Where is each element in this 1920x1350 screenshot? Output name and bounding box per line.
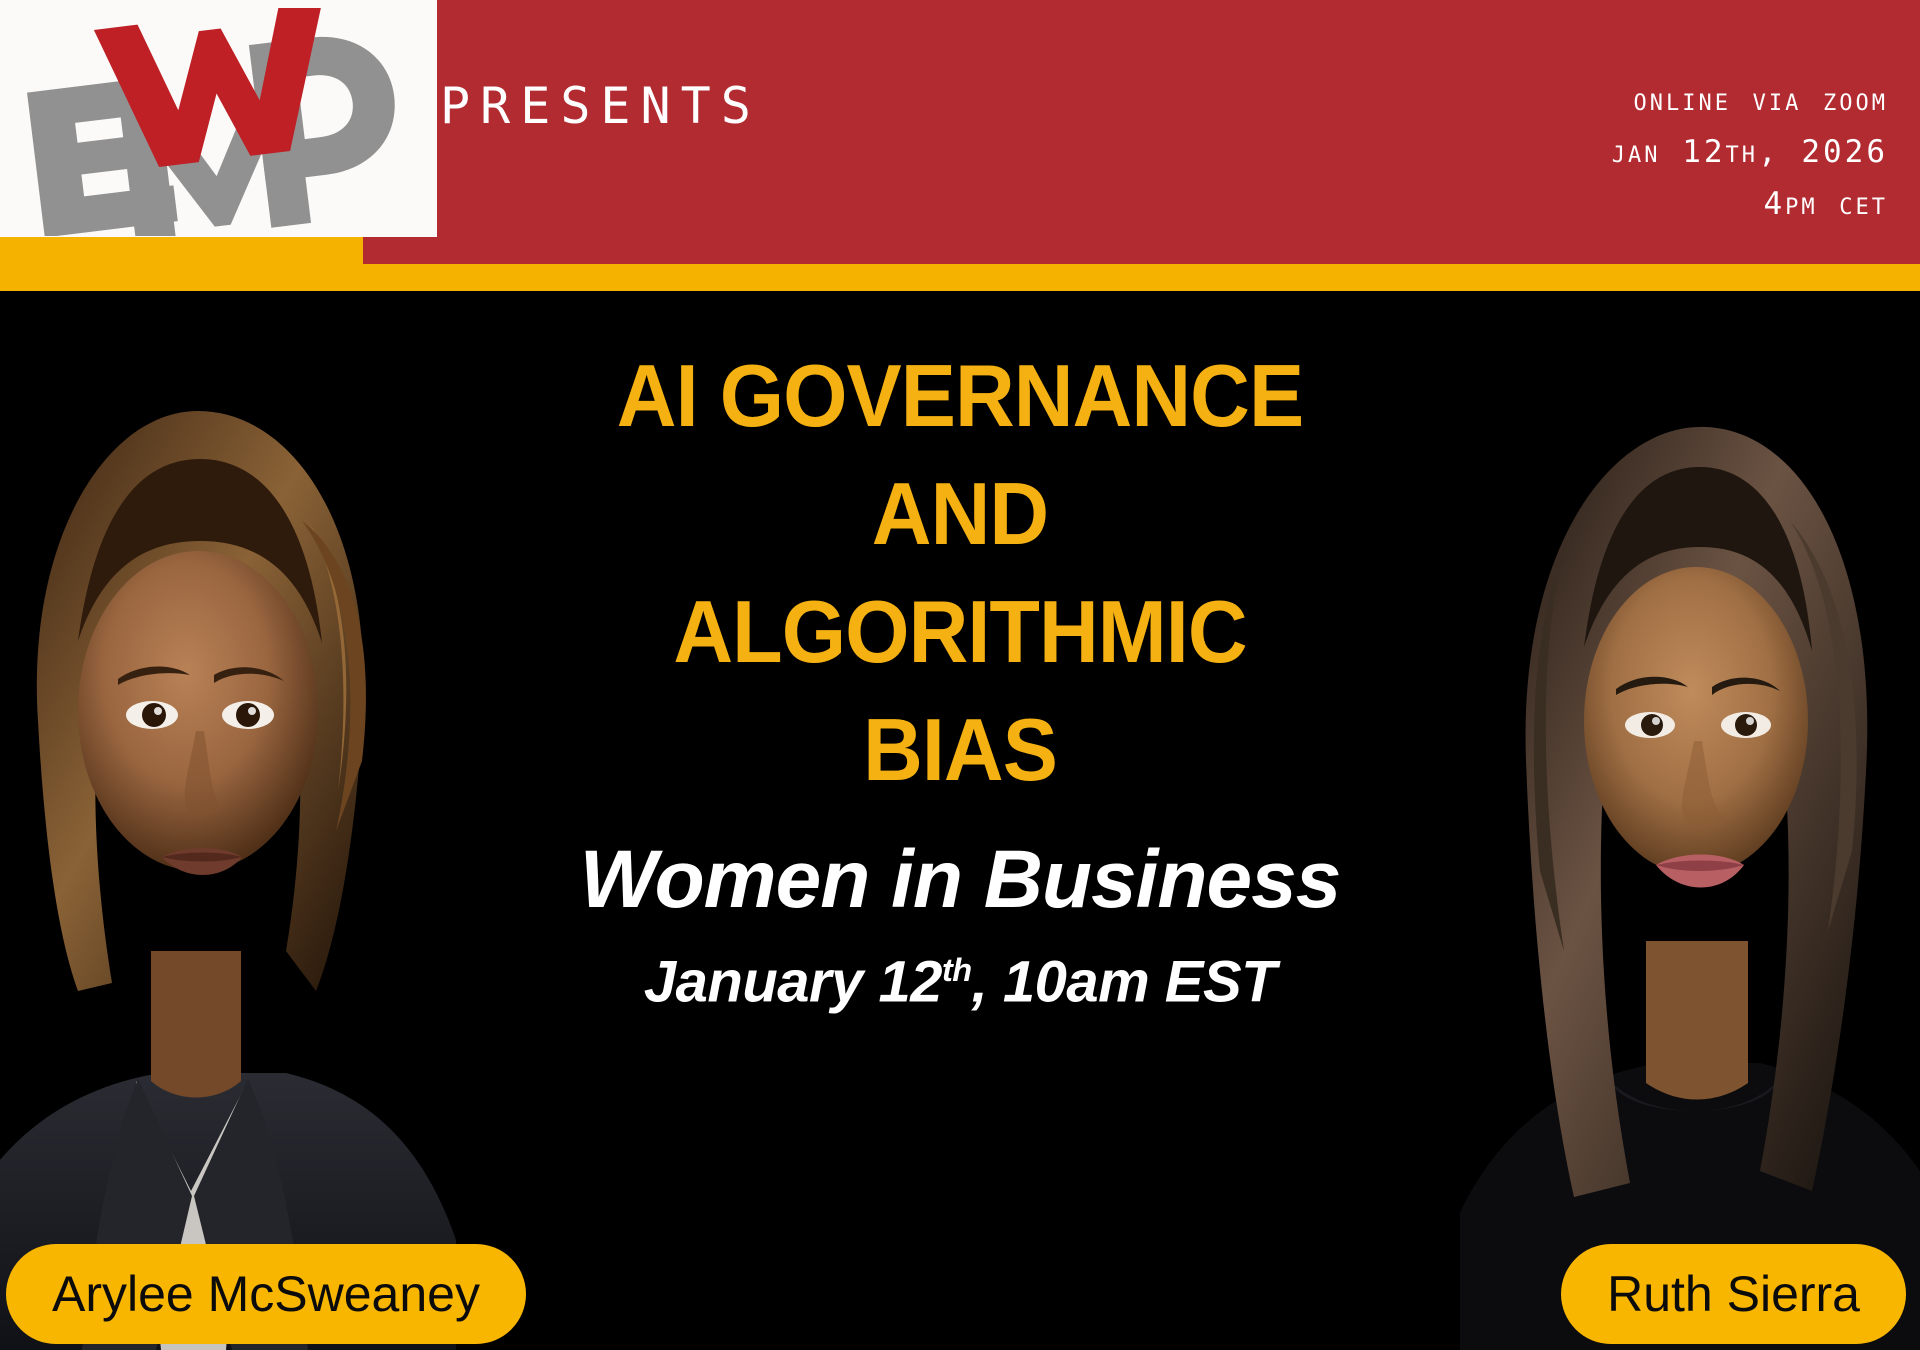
- logo-panel: [0, 0, 437, 237]
- meta-line-platform: Online via zoom: [1612, 74, 1888, 126]
- subtitle-date: January 12th, 10am EST: [437, 936, 1483, 1016]
- subtitle: Women in Business: [437, 834, 1483, 926]
- presents-label: Presents: [440, 56, 761, 140]
- ewmd-logo-icon: [14, 8, 414, 236]
- title-column: AI GOVERNANCE AND ALGORITHMIC BIAS Women…: [437, 291, 1483, 1350]
- portrait-ruth-icon: [1460, 291, 1920, 1350]
- ewmd-logo: [0, 0, 437, 237]
- main-stage: AI GOVERNANCE AND ALGORITHMIC BIAS Women…: [0, 291, 1920, 1350]
- headline-line-4: BIAS: [468, 691, 1451, 809]
- portrait-arylee-icon: [0, 291, 456, 1350]
- speaker-photo-left: [0, 291, 456, 1350]
- headline-line-2: AND: [468, 455, 1451, 573]
- speaker-photo-right: [1460, 291, 1920, 1350]
- gold-accent-bar-left: [0, 237, 363, 291]
- event-meta: Online via zoom Jan 12th, 2026 4PM CET: [1612, 74, 1888, 230]
- headline: AI GOVERNANCE AND ALGORITHMIC BIAS: [468, 337, 1451, 809]
- webinar-flyer: Presents Online via zoom Jan 12th, 2026 …: [0, 0, 1920, 1350]
- subtitle-date-ordinal: th: [942, 952, 972, 988]
- headline-line-3: ALGORITHMIC: [468, 573, 1451, 691]
- gold-accent-bar: [363, 264, 1920, 291]
- meta-line-date: Jan 12th, 2026: [1612, 126, 1888, 178]
- subtitle-date-suffix: , 10am EST: [972, 949, 1276, 1014]
- speaker-name-badge-right: Ruth Sierra: [1561, 1244, 1906, 1344]
- speaker-name-badge-left: Arylee McSweaney: [6, 1244, 526, 1344]
- headline-line-1: AI GOVERNANCE: [468, 337, 1451, 455]
- meta-line-time: 4PM CET: [1612, 178, 1888, 230]
- subtitle-date-prefix: January 12: [644, 949, 942, 1014]
